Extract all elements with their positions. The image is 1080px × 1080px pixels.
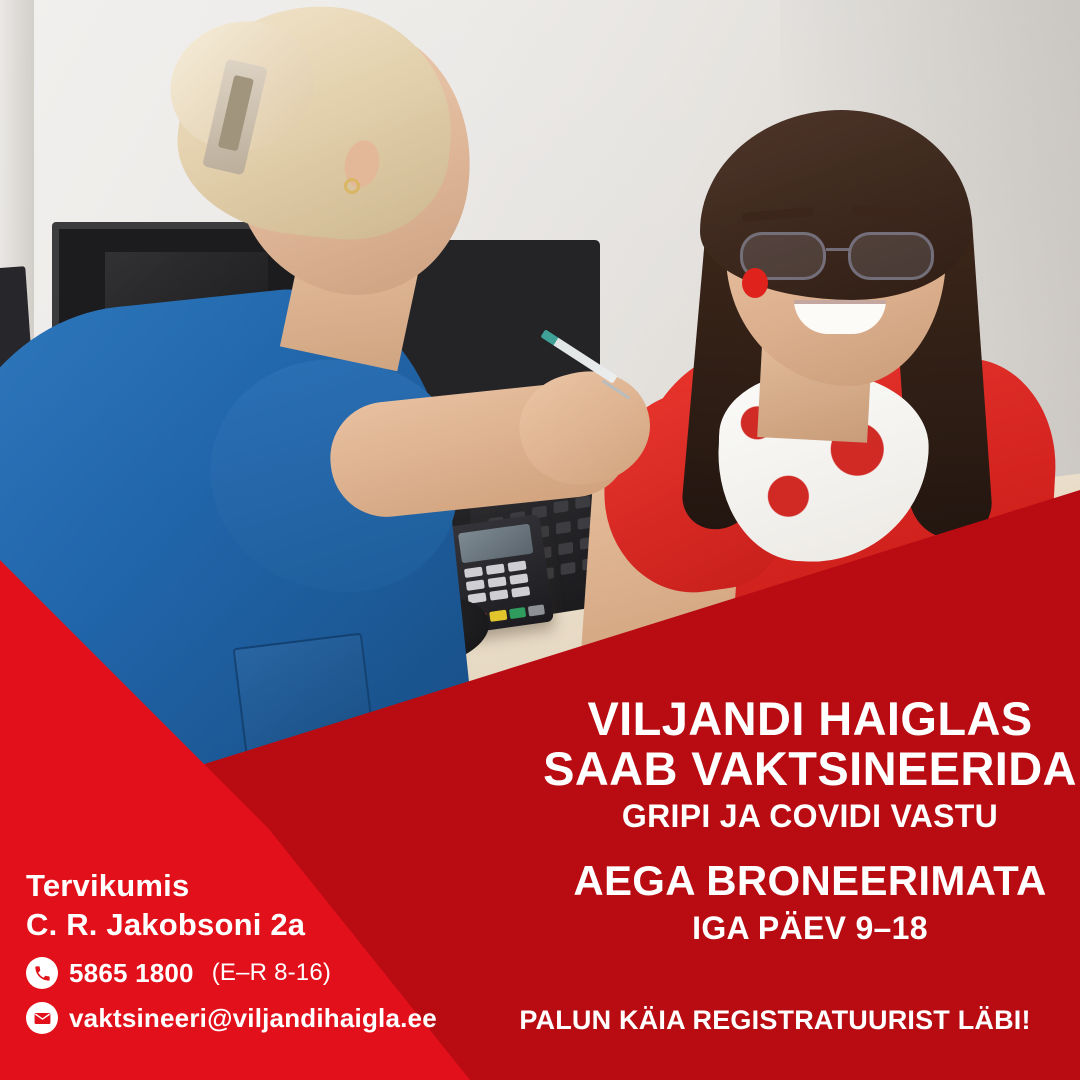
availability-block: AEGA BRONEERIMATA IGA PÄEV 9–18 bbox=[540, 856, 1080, 950]
envelope-icon bbox=[26, 1002, 58, 1034]
cta-text: PALUN KÄIA REGISTRATUURIST LÄBI! bbox=[470, 1005, 1080, 1036]
phone-hours: (E–R 8-16) bbox=[212, 959, 331, 987]
email-row[interactable]: vaktsineeri@viljandihaigla.ee bbox=[26, 1002, 437, 1034]
phone-icon bbox=[26, 957, 58, 989]
headline-subline: GRIPI JA COVIDI VASTU bbox=[540, 794, 1080, 838]
availability-hours: IGA PÄEV 9–18 bbox=[540, 906, 1080, 950]
organization-name: Tervikumis bbox=[26, 866, 437, 905]
headline-block: VILJANDI HAIGLAS SAAB VAKTSINEERIDA GRIP… bbox=[540, 694, 1080, 838]
availability-title: AEGA BRONEERIMATA bbox=[540, 856, 1080, 906]
contact-block: Tervikumis C. R. Jakobsoni 2a 5865 1800 … bbox=[26, 866, 437, 1034]
vaccination-poster: VILJANDI HAIGLAS SAAB VAKTSINEERIDA GRIP… bbox=[0, 0, 1080, 1080]
street-address: C. R. Jakobsoni 2a bbox=[26, 905, 437, 944]
headline-line-2: SAAB VAKTSINEERIDA bbox=[540, 744, 1080, 794]
email-address: vaktsineeri@viljandihaigla.ee bbox=[69, 1003, 437, 1034]
headline-line-1: VILJANDI HAIGLAS bbox=[540, 694, 1080, 744]
phone-row[interactable]: 5865 1800 (E–R 8-16) bbox=[26, 957, 437, 989]
phone-number: 5865 1800 bbox=[69, 958, 194, 989]
